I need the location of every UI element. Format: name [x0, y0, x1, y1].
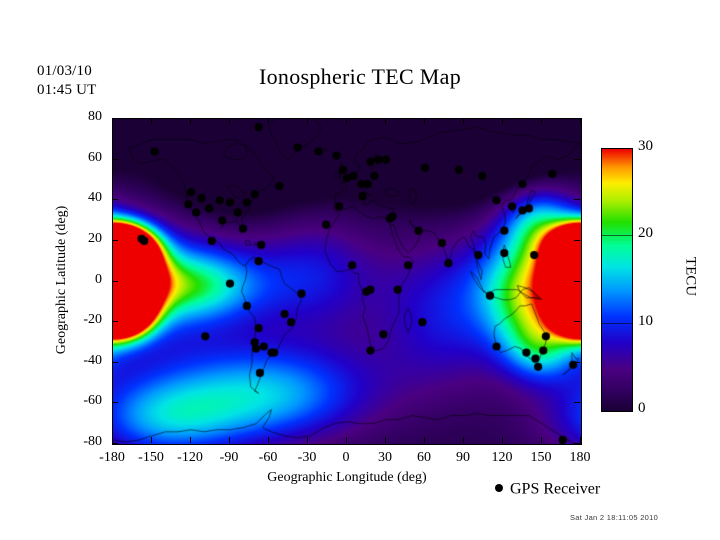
y-tick-mark [112, 199, 118, 200]
render-timestamp: Sat Jan 2 18:11:05 2010 [570, 513, 658, 522]
y-tick-mark [112, 159, 118, 160]
x-tick-mark [151, 437, 152, 443]
x-tick-mark [385, 118, 386, 124]
x-tick-mark [424, 437, 425, 443]
colorbar-tick-mark [601, 323, 632, 324]
y-tick-mark [112, 402, 118, 403]
x-tick-mark [190, 118, 191, 124]
x-tick-mark [229, 437, 230, 443]
y-tick-label: -80 [62, 434, 102, 450]
x-axis-title: Geographic Longitude (deg) [182, 470, 512, 486]
colorbar-tick-label: 20 [638, 225, 653, 242]
coastline-and-receivers-canvas [113, 119, 581, 444]
colorbar [601, 148, 633, 412]
colorbar-title: TECU [682, 217, 699, 337]
y-tick-mark [574, 281, 580, 282]
y-tick-mark [112, 362, 118, 363]
x-tick-mark [463, 118, 464, 124]
map-plot-area [112, 118, 582, 445]
colorbar-tick-label: 30 [638, 138, 653, 155]
x-tick-mark [268, 118, 269, 124]
x-tick-mark [190, 437, 191, 443]
colorbar-gradient-canvas [602, 149, 632, 411]
y-tick-mark [574, 159, 580, 160]
colorbar-tick-mark [601, 235, 632, 236]
x-tick-mark [268, 437, 269, 443]
x-tick-mark [580, 118, 581, 124]
observation-time: 01:45 UT [37, 81, 157, 100]
y-tick-label: 80 [62, 109, 102, 125]
y-tick-mark [112, 240, 118, 241]
y-tick-mark [112, 118, 118, 119]
y-axis-title: Geographic Latitude (deg) [54, 170, 70, 390]
x-tick-mark [151, 118, 152, 124]
x-tick-mark [424, 118, 425, 124]
x-tick-mark [385, 437, 386, 443]
x-tick-label: 180 [550, 450, 610, 466]
gps-receiver-legend-label: GPS Receiver [510, 480, 600, 497]
observation-datestamp: 01/03/10 01:45 UT [37, 62, 157, 100]
x-tick-mark [346, 437, 347, 443]
y-tick-mark [112, 443, 118, 444]
y-tick-label: -60 [62, 393, 102, 409]
gps-receiver-marker-icon [495, 484, 503, 492]
x-tick-mark [580, 437, 581, 443]
colorbar-tick-label: 10 [638, 313, 653, 330]
y-tick-mark [112, 281, 118, 282]
x-tick-mark [541, 437, 542, 443]
x-tick-mark [307, 118, 308, 124]
y-tick-mark [574, 443, 580, 444]
gps-receiver-legend: GPS Receiver [495, 480, 600, 498]
y-tick-mark [574, 321, 580, 322]
y-tick-mark [574, 118, 580, 119]
x-tick-mark [229, 118, 230, 124]
y-tick-mark [574, 199, 580, 200]
y-tick-mark [574, 362, 580, 363]
x-tick-mark [502, 437, 503, 443]
y-tick-label: 60 [62, 150, 102, 166]
y-tick-mark [574, 240, 580, 241]
colorbar-tick-label: 0 [638, 400, 646, 417]
observation-date: 01/03/10 [37, 62, 157, 81]
x-tick-mark [463, 437, 464, 443]
x-tick-mark [307, 437, 308, 443]
tec-map-figure: 01/03/10 01:45 UT Ionospheric TEC Map -1… [0, 0, 720, 540]
x-tick-mark [502, 118, 503, 124]
y-tick-mark [574, 402, 580, 403]
figure-title: Ionospheric TEC Map [160, 64, 560, 90]
y-tick-mark [112, 321, 118, 322]
x-tick-mark [541, 118, 542, 124]
x-tick-mark [346, 118, 347, 124]
